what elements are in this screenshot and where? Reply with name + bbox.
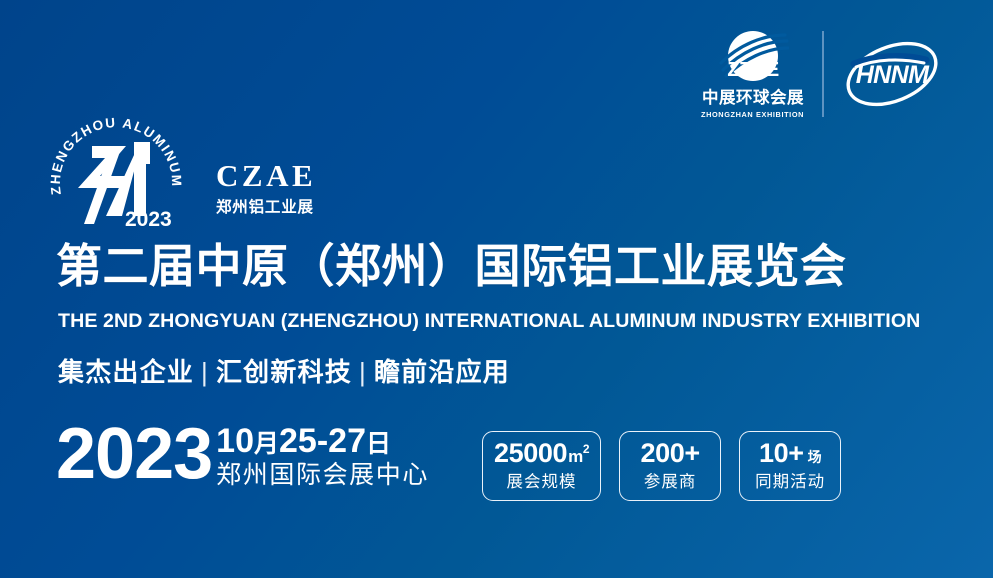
stat-number-exhibitors: 200+: [640, 439, 699, 467]
slogan-part-2: 汇创新科技: [216, 357, 352, 387]
zzge-logo: ZZGE 中展环球会展 ZHONGZHAN EXHIBITION: [694, 29, 812, 118]
zzge-name-cn: 中展环球会展: [702, 90, 804, 107]
hnnm-logo: HNNM: [840, 34, 944, 114]
event-days: 25-27: [279, 422, 366, 460]
stats-row: 25000m2 展会规模 200+ 参展商 10+场 同期活动: [482, 431, 841, 501]
date-venue-text: 10月25-27日 郑州国际会展中心: [216, 424, 429, 490]
page-subtitle-en: THE 2ND ZHONGYUAN (ZHENGZHOU) INTERNATIO…: [58, 310, 920, 333]
stat-label-exhibitors: 参展商: [644, 468, 697, 492]
stat-label-area: 展会规模: [507, 468, 577, 492]
stat-box-events: 10+场 同期活动: [739, 431, 841, 501]
hnnm-wordmark: HNNM: [855, 61, 929, 89]
slogan-separator-1: |: [194, 357, 216, 387]
slogan-part-3: 瞻前沿应用: [374, 357, 510, 387]
slogan-separator-2: |: [352, 357, 374, 387]
event-month-unit: 月: [254, 430, 279, 458]
czae-badge-icon: ZHENGZHOU ALUMINUM 2023: [48, 112, 186, 234]
stat-suffix-events: 场: [808, 450, 822, 465]
stat-number-events: 10+: [759, 439, 804, 467]
event-dates: 10月25-27日: [216, 424, 429, 459]
stat-box-exhibitors: 200+ 参展商: [619, 431, 721, 501]
slogan: 集杰出企业|汇创新科技|瞻前沿应用: [58, 352, 510, 389]
stat-superscript-area: 2: [583, 443, 589, 455]
logo-divider: [822, 31, 824, 117]
czae-name-cn: 郑州铝工业展: [216, 195, 328, 217]
stat-number-area: 25000: [494, 439, 567, 467]
date-venue-block: 2023 10月25-27日 郑州国际会展中心: [56, 420, 429, 490]
stat-unit-area: m: [568, 448, 583, 466]
svg-text:2023: 2023: [125, 208, 172, 231]
stat-value-area: 25000m2: [494, 439, 589, 467]
event-day-unit: 日: [366, 430, 391, 458]
event-year: 2023: [56, 420, 212, 489]
stat-value-exhibitors: 200+: [640, 439, 699, 467]
stat-value-events: 10+场: [759, 439, 821, 467]
event-poster: ZZGE 中展环球会展 ZHONGZHAN EXHIBITION HNNM: [0, 0, 993, 578]
partner-logos: ZZGE 中展环球会展 ZHONGZHAN EXHIBITION HNNM: [694, 26, 950, 122]
slogan-part-1: 集杰出企业: [58, 357, 194, 387]
zzge-globe-icon: ZZGE: [717, 29, 789, 89]
czae-wordmark: CZAE 郑州铝工业展: [216, 160, 328, 217]
event-venue: 郑州国际会展中心: [216, 461, 429, 491]
svg-text:ZZGE: ZZGE: [727, 59, 778, 81]
czae-event-logo: ZHENGZHOU ALUMINUM 2023 CZAE 郑州铝工业展: [48, 112, 284, 234]
czae-letters: CZAE: [216, 160, 328, 191]
event-month-number: 10: [216, 422, 254, 460]
zzge-name-en: ZHONGZHAN EXHIBITION: [701, 110, 804, 119]
page-title: 第二届中原（郑州）国际铝工业展览会: [56, 240, 847, 293]
stat-box-area: 25000m2 展会规模: [482, 431, 601, 501]
stat-label-events: 同期活动: [755, 468, 825, 492]
